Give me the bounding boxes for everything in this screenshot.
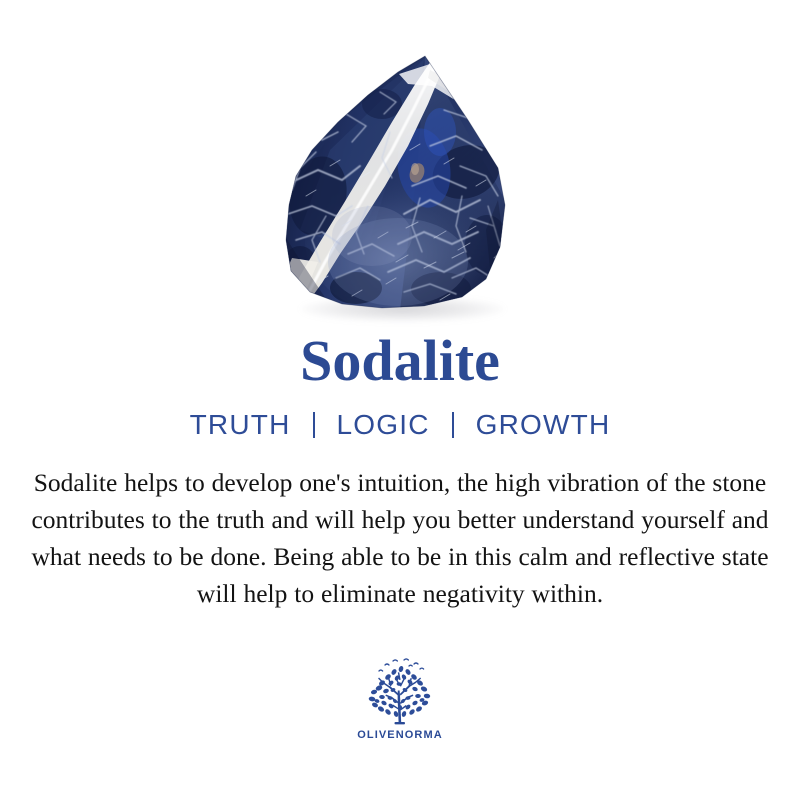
keyword-logic: LOGIC: [337, 409, 430, 441]
crystal-image-stage: [0, 0, 800, 330]
keyword-growth: GROWTH: [476, 409, 611, 441]
product-info-card: Sodalite TRUTH LOGIC GROWTH Sodalite hel…: [0, 0, 800, 800]
keyword-list: TRUTH LOGIC GROWTH: [190, 408, 611, 442]
keyword-truth: TRUTH: [190, 409, 291, 441]
brand-logo: OLIVENORMA: [357, 656, 443, 741]
sodalite-crystal-image: [0, 0, 800, 330]
keyword-separator: [313, 412, 315, 438]
olive-tree-icon: [357, 656, 443, 728]
keyword-separator: [452, 412, 454, 438]
brand-wordmark: OLIVENORMA: [357, 729, 443, 741]
page-title: Sodalite: [300, 330, 500, 392]
product-description: Sodalite helps to develop one's intuitio…: [22, 464, 778, 612]
crystal-body: [270, 40, 530, 330]
